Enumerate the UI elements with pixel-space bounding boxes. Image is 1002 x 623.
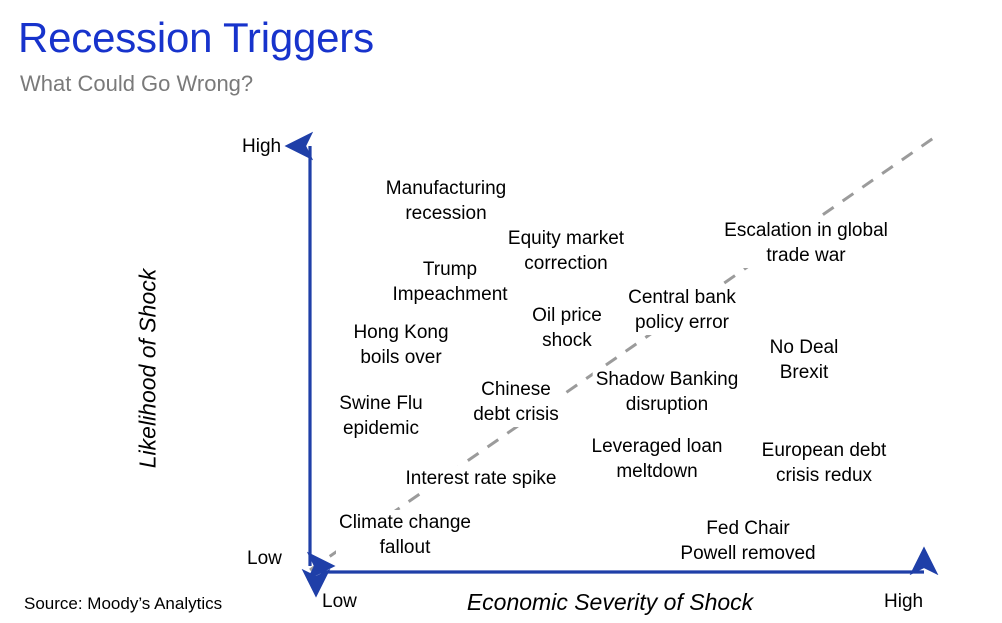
scatter-label: Central bank policy error xyxy=(625,285,739,335)
scatter-label: Interest rate spike xyxy=(402,466,559,491)
scatter-label: Shadow Banking disruption xyxy=(593,367,742,417)
scatter-label: No Deal Brexit xyxy=(767,335,842,385)
scatter-label: Equity market correction xyxy=(505,226,627,276)
scatter-label: Swine Flu epidemic xyxy=(336,391,425,441)
scatter-label: Leveraged loan meltdown xyxy=(589,434,726,484)
scatter-label: European debt crisis redux xyxy=(759,438,890,488)
scatter-label: Fed Chair Powell removed xyxy=(677,516,818,566)
scatter-label: Chinese debt crisis xyxy=(470,377,562,427)
slide-canvas: Recession Triggers What Could Go Wrong? … xyxy=(0,0,1002,623)
scatter-label: Hong Kong boils over xyxy=(350,320,451,370)
source-note: Source: Moody’s Analytics xyxy=(24,594,222,614)
scatter-label: Climate change fallout xyxy=(336,510,474,560)
scatter-label: Manufacturing recession xyxy=(383,176,509,226)
scatter-plot: High Low Low High Likelihood of Shock Ec… xyxy=(0,0,1002,623)
scatter-label-layer: Manufacturing recessionEquity market cor… xyxy=(0,0,1002,623)
scatter-label: Oil price shock xyxy=(529,303,605,353)
scatter-label: Escalation in global trade war xyxy=(721,218,891,268)
scatter-label: Trump Impeachment xyxy=(389,257,510,307)
